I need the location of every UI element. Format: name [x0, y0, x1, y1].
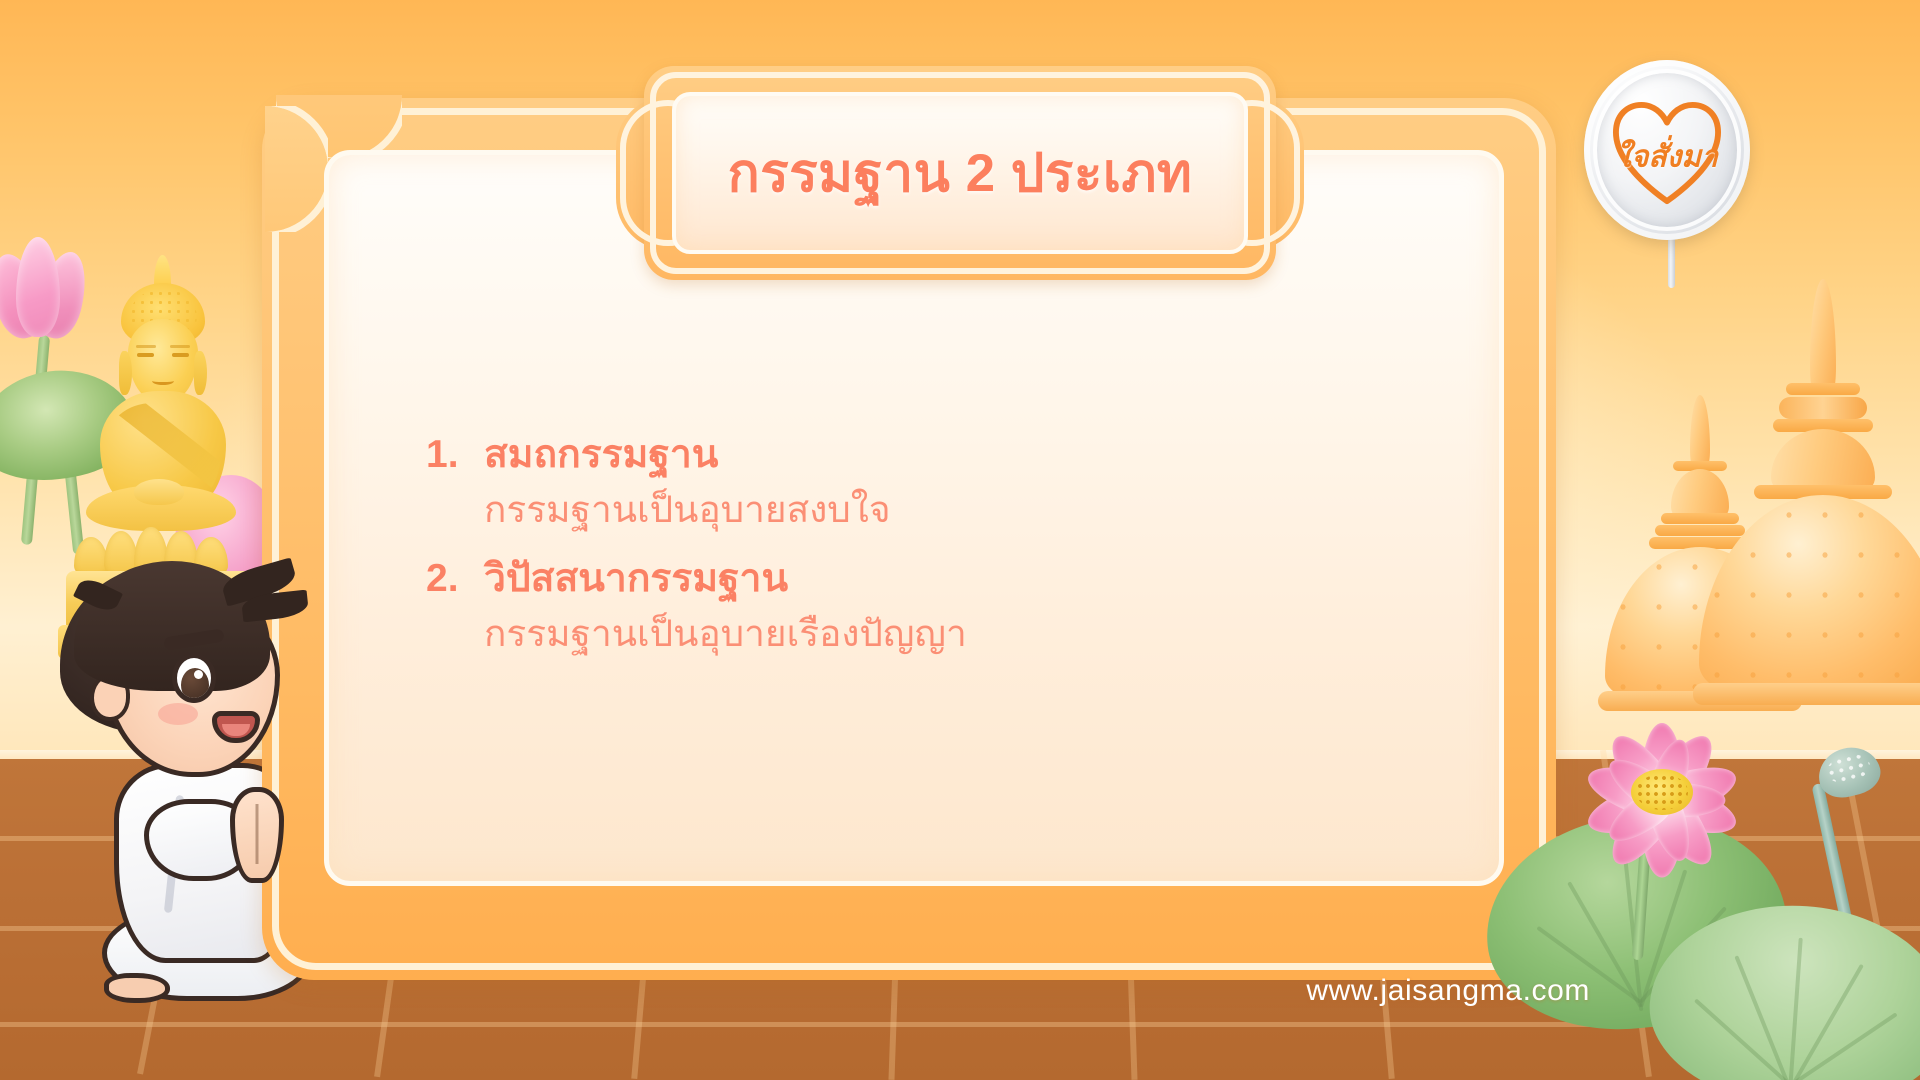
content-list: 1. สมถกรรมฐาน กรรมฐานเป็นอุบายสงบใจ 2. ว… — [426, 430, 1326, 678]
website-url[interactable]: www.jaisangma.com — [1306, 974, 1590, 1008]
right-lotus-group — [1500, 690, 1920, 1080]
banner-inner-panel: กรรมฐาน 2 ประเภท — [672, 92, 1248, 254]
orange-stupa-icon — [1698, 279, 1920, 709]
brand-logo-badge[interactable]: ใจสั่งมา — [1584, 60, 1754, 290]
boy-cheek-blush — [158, 703, 198, 725]
slide-canvas: กรรมฐาน 2 ประเภท ใจสั่งมา 1. สมถกรรมฐาน … — [0, 0, 1920, 1080]
list-item-number: 2. — [426, 554, 468, 604]
list-item-detail: กรรมฐานเป็นอุบายสงบใจ — [484, 486, 1326, 534]
list-item-heading: วิปัสสนากรรมฐาน — [484, 554, 788, 604]
boy-praying-hands — [230, 787, 284, 883]
list-item-number: 1. — [426, 430, 468, 480]
list-item-heading: สมถกรรมฐาน — [484, 430, 718, 480]
list-item: 2. วิปัสสนากรรมฐาน — [426, 554, 1326, 604]
badge-label: ใจสั่งมา — [1616, 134, 1718, 181]
page-title: กรรมฐาน 2 ประเภท — [728, 131, 1193, 215]
list-item: 1. สมถกรรมฐาน — [426, 430, 1326, 480]
list-item-detail: กรรมฐานเป็นอุบายเรืองปัญญา — [484, 610, 1326, 658]
buddha-hands — [134, 479, 184, 505]
pink-lotus-flower-icon — [1552, 714, 1772, 884]
boy-foot — [104, 973, 170, 1003]
lotus-flower-center — [1631, 769, 1693, 815]
boy-eye — [172, 653, 216, 703]
title-banner: กรรมฐาน 2 ประเภท — [616, 66, 1304, 280]
badge-medallion: ใจสั่งมา — [1584, 60, 1750, 240]
